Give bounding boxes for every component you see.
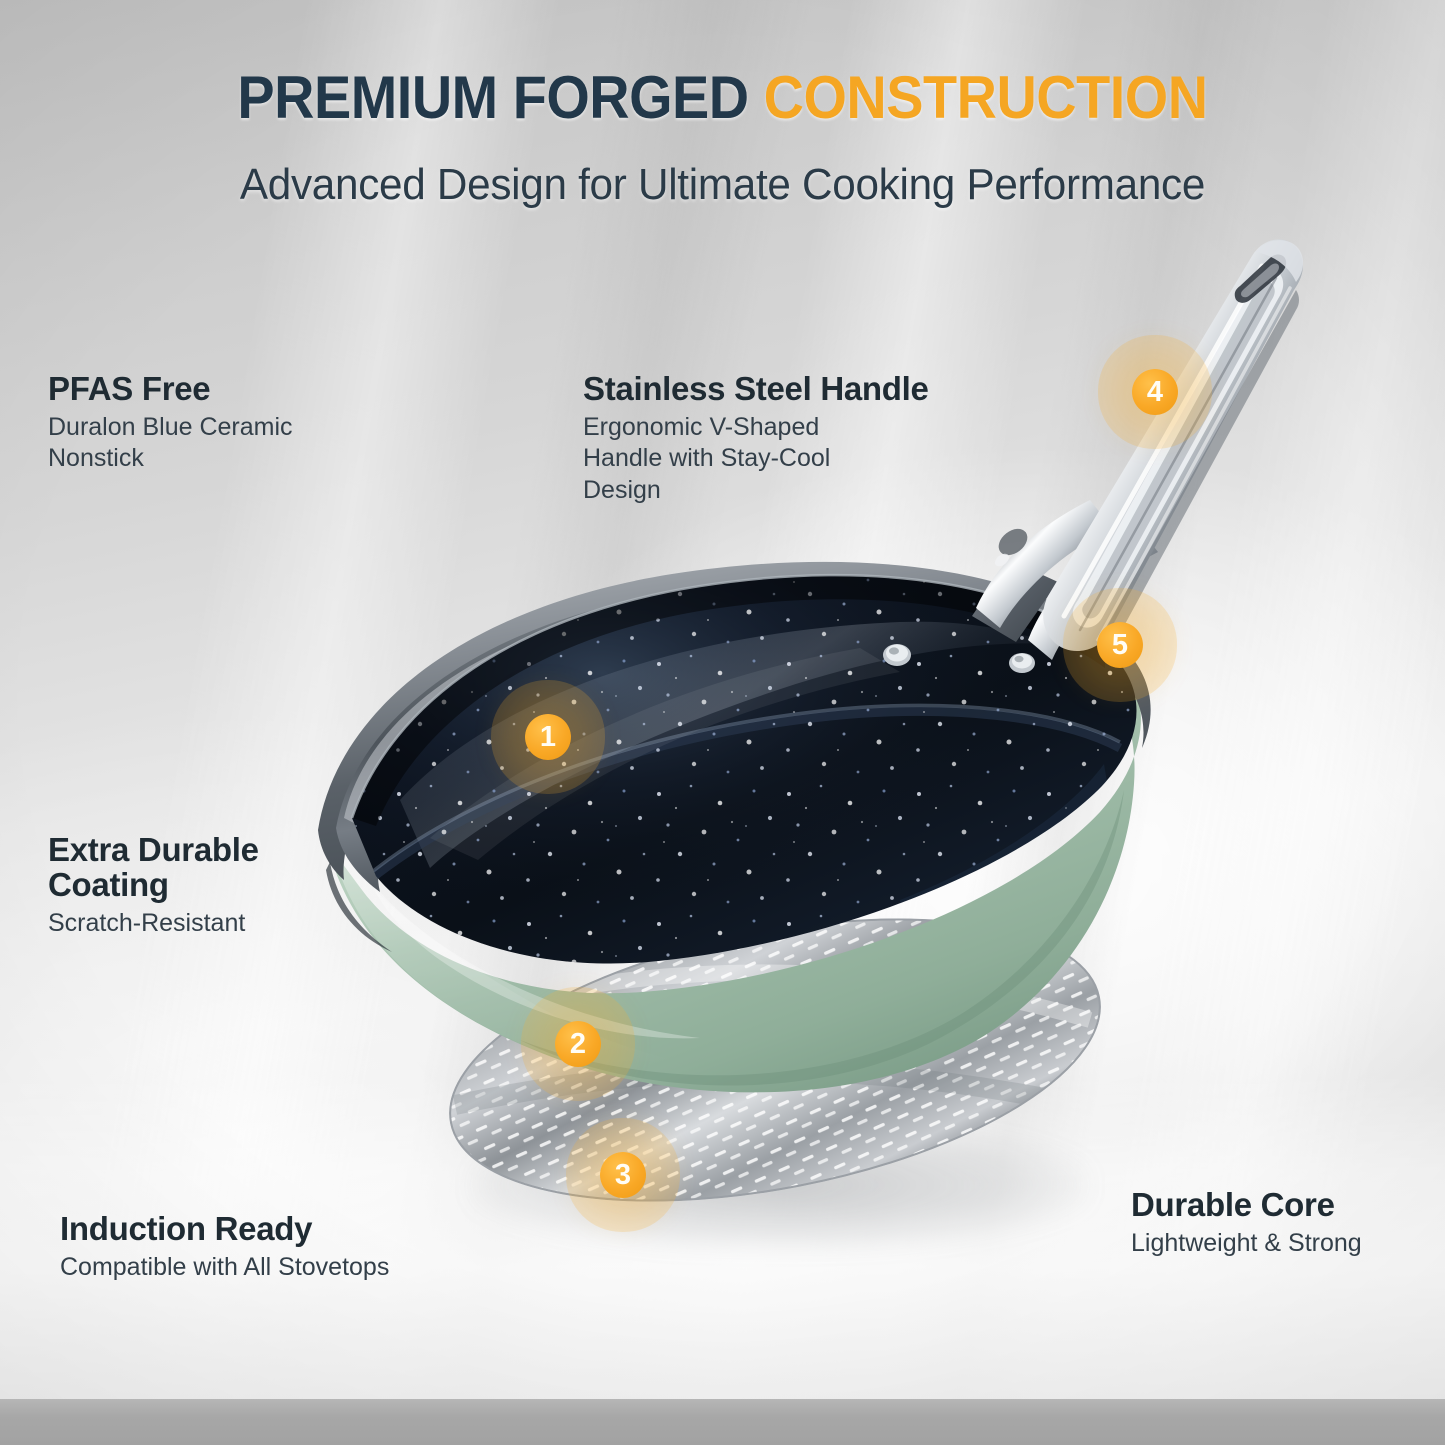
callout-body-3: Compatible with All Stovetops <box>60 1252 490 1284</box>
callout-stainless-steel-handle: Stainless Steel Handle Ergonomic V-Shape… <box>583 372 963 506</box>
marker-badge-5[interactable]: 5 <box>1097 622 1143 668</box>
marker-badge-2[interactable]: 2 <box>555 1021 601 1067</box>
callout-pfas-free: PFAS Free Duralon Blue Ceramic Nonstick <box>48 372 388 475</box>
callout-extra-durable-coating: Extra Durable Coating Scratch-Resistant <box>48 833 388 939</box>
callout-heading-3: Induction Ready <box>60 1212 490 1247</box>
callout-heading-4: Stainless Steel Handle <box>583 372 963 407</box>
marker-badge-4[interactable]: 4 <box>1132 369 1178 415</box>
infographic-canvas: PREMIUM FORGED CONSTRUCTION Advanced Des… <box>0 0 1445 1445</box>
callout-induction-ready: Induction Ready Compatible with All Stov… <box>60 1212 490 1283</box>
callout-body-4: Ergonomic V-Shaped Handle with Stay-Cool… <box>583 412 963 507</box>
callout-heading-1: PFAS Free <box>48 372 388 407</box>
callout-durable-core: Durable Core Lightweight & Strong <box>1131 1188 1441 1259</box>
stainless-steel-handle <box>972 239 1303 660</box>
marker-badge-3[interactable]: 3 <box>600 1152 646 1198</box>
callout-body-2: Scratch-Resistant <box>48 908 388 940</box>
callout-heading-5: Durable Core <box>1131 1188 1441 1223</box>
callout-body-1: Duralon Blue Ceramic Nonstick <box>48 412 388 475</box>
callout-heading-2: Extra Durable Coating <box>48 833 388 903</box>
marker-badge-1[interactable]: 1 <box>525 714 571 760</box>
callout-body-5: Lightweight & Strong <box>1131 1228 1441 1260</box>
